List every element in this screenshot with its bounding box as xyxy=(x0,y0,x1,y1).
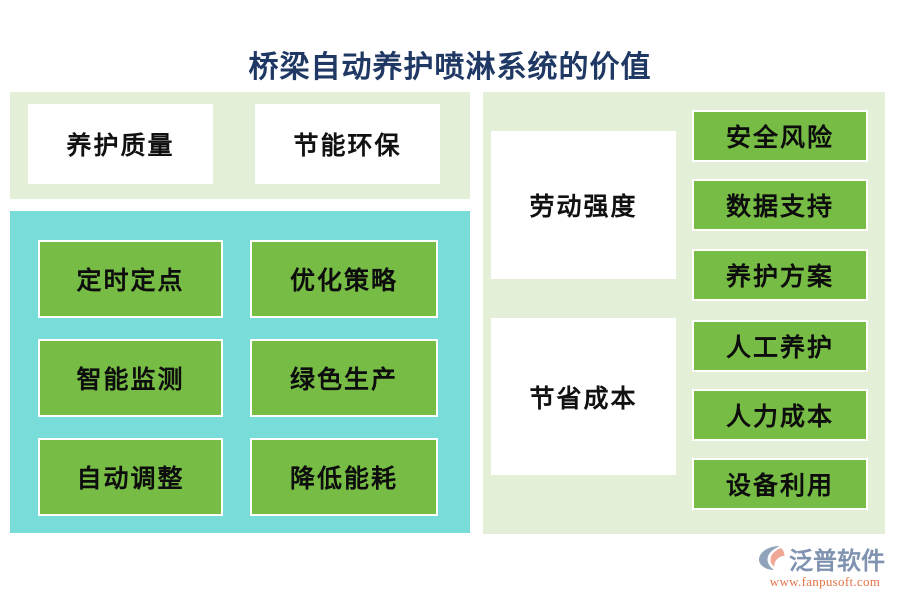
card-label: 养护质量 xyxy=(66,126,174,162)
green-box-label: 养护方案 xyxy=(726,257,834,293)
green-box-label: 数据支持 xyxy=(726,187,834,223)
green-box-label: 智能监测 xyxy=(76,360,184,396)
company-logo[interactable]: 泛普软件 www.fanpusoft.com xyxy=(758,543,892,591)
green-box-manual-maintenance[interactable]: 人工养护 xyxy=(692,320,868,372)
green-box-label: 自动调整 xyxy=(76,459,184,495)
infographic-canvas: 桥梁自动养护喷淋系统的价值 养护质量 节能环保 定时定点 优化策略 智能监测 绿… xyxy=(0,0,900,600)
green-box-auto-adjustment[interactable]: 自动调整 xyxy=(38,438,223,516)
card-cost-saving[interactable]: 节省成本 xyxy=(491,318,676,475)
green-box-scheduled-timing[interactable]: 定时定点 xyxy=(38,240,223,318)
green-box-equipment-utilization[interactable]: 设备利用 xyxy=(692,458,868,510)
green-box-label: 人工养护 xyxy=(726,328,834,364)
logo-row: 泛普软件 xyxy=(758,543,892,573)
fanpu-swoosh-icon xyxy=(758,544,788,572)
logo-company-name: 泛普软件 xyxy=(789,541,885,576)
green-box-maintenance-plan[interactable]: 养护方案 xyxy=(692,249,868,301)
green-box-safety-risk[interactable]: 安全风险 xyxy=(692,110,868,162)
green-box-label: 人力成本 xyxy=(726,397,834,433)
green-box-label: 设备利用 xyxy=(726,466,834,502)
green-box-label: 安全风险 xyxy=(726,118,834,154)
page-title: 桥梁自动养护喷淋系统的价值 xyxy=(0,42,900,86)
card-label: 节省成本 xyxy=(529,379,637,415)
green-box-reduced-consumption[interactable]: 降低能耗 xyxy=(250,438,438,516)
green-box-label: 降低能耗 xyxy=(290,459,398,495)
card-label: 节能环保 xyxy=(293,126,401,162)
green-box-optimized-strategy[interactable]: 优化策略 xyxy=(250,240,438,318)
card-energy-saving[interactable]: 节能环保 xyxy=(255,104,440,184)
logo-website-url: www.fanpusoft.com xyxy=(758,574,892,590)
card-maintenance-quality[interactable]: 养护质量 xyxy=(28,104,213,184)
green-box-green-production[interactable]: 绿色生产 xyxy=(250,339,438,417)
green-box-label: 定时定点 xyxy=(76,261,184,297)
green-box-smart-monitoring[interactable]: 智能监测 xyxy=(38,339,223,417)
green-box-data-support[interactable]: 数据支持 xyxy=(692,179,868,231)
green-box-label: 绿色生产 xyxy=(290,360,398,396)
green-box-labor-cost[interactable]: 人力成本 xyxy=(692,389,868,441)
card-labor-intensity[interactable]: 劳动强度 xyxy=(491,131,676,279)
card-label: 劳动强度 xyxy=(529,187,637,223)
green-box-label: 优化策略 xyxy=(290,261,398,297)
